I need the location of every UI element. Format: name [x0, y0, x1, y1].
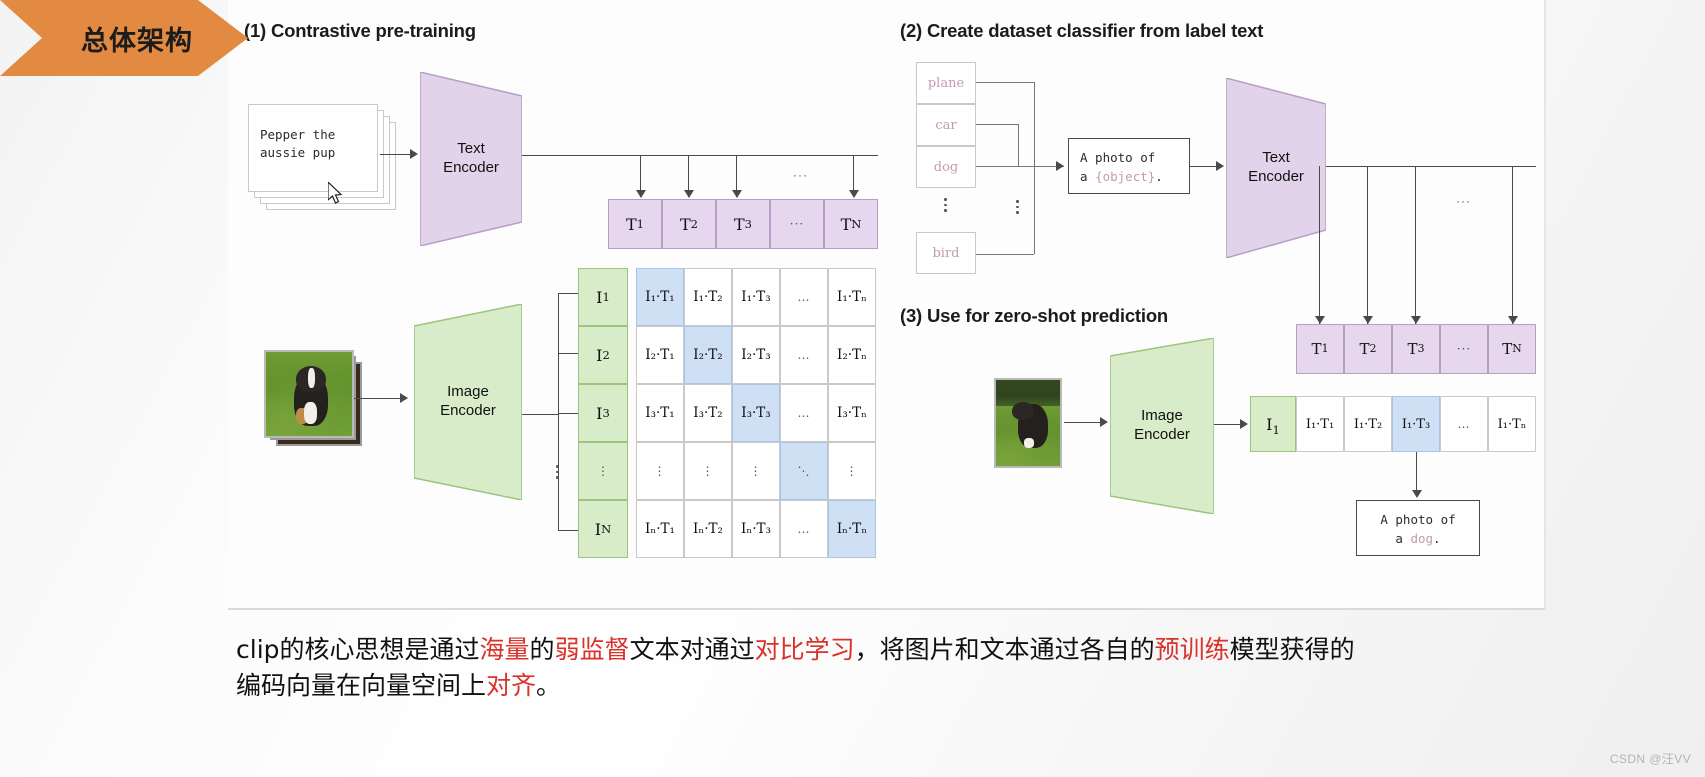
section1-matrix-cell-r4-c2: ⋮: [684, 442, 732, 500]
section1-matrix-cell-r4-c5: ⋮: [828, 442, 876, 500]
section2-label-bird: bird: [916, 232, 976, 274]
encoder2-bus-ellipsis: ···: [1456, 194, 1471, 208]
arrow-encoder2-to-i1-line: [1214, 424, 1242, 425]
section1-i-column: I1I2I3⋮IN: [578, 268, 628, 560]
section1-matrix-cell-r1-c5: I₁·Tₙ: [828, 268, 876, 326]
section1-matrix-cell-r4-c3: ⋮: [732, 442, 780, 500]
section3-score-row: I₁·T₁I₁·T₂I₁·T₃…I₁·Tₙ: [1296, 396, 1538, 452]
image-encoder-block: Image Encoder: [414, 304, 522, 500]
arrow-prompt-to-encoder-line: [1190, 166, 1218, 167]
label-connector-spine-left: [1018, 124, 1019, 166]
result-line2-prefix: a: [1395, 531, 1410, 546]
text-encoder-2-label-line2: Encoder: [1248, 168, 1304, 187]
section1-matrix-cell-r2-c2: I₂·T₂: [684, 326, 732, 384]
section2-label-car: car: [916, 104, 976, 146]
section3-score-cell-1: I₁·T₁: [1296, 396, 1344, 452]
image-encoder-2-label-line2: Encoder: [1134, 426, 1190, 445]
section1-matrix-cell-r3-c5: I₃·Tₙ: [828, 384, 876, 442]
section1-i-cell-1: I1: [578, 268, 628, 326]
caption-line2-part-3: 。: [536, 671, 561, 700]
image-encoder-label-line2: Encoder: [440, 402, 496, 421]
section1-matrix-cell-r1-c3: I₁·T₃: [732, 268, 780, 326]
section3-score-cell-3: I₁·T₃: [1392, 396, 1440, 452]
image-dog-chest: [304, 402, 317, 424]
section1-t-cell-3: T3: [716, 199, 770, 249]
image-encoder-bus: [522, 414, 558, 415]
arrow-query-image-head: [1100, 417, 1108, 427]
t-col-drop-2: [1367, 166, 1368, 324]
label-connector-car: [976, 124, 1018, 125]
image-encoder-2-label: Image Encoder: [1110, 338, 1214, 514]
section1-t-row: T1T2T3···TN: [608, 199, 878, 249]
image-bus-ellipsis: [556, 465, 559, 479]
caption-line-1: clip的核心思想是通过海量的弱监督文本对通过对比学习，将图片和文本通过各自的预…: [236, 632, 1516, 668]
result-line1: A photo of: [1357, 511, 1479, 530]
section1-matrix-cell-r5-c5: Iₙ·Tₙ: [828, 500, 876, 558]
encoder2-bus: [1326, 166, 1536, 167]
text-encoder-bus-arrow-n: [849, 190, 859, 198]
arrow-card-to-text-encoder-line: [380, 154, 412, 155]
caption-line-2: 编码向量在向量空间上对齐。: [236, 668, 1516, 704]
section3-t-cell-3: T3: [1392, 324, 1440, 374]
prompt-template-box: A photo of a {object}.: [1068, 138, 1190, 194]
arrow-labels-to-prompt: [1056, 161, 1064, 171]
section2-label-ellipsis: [944, 198, 947, 212]
query-image: [994, 378, 1062, 468]
caption-line1-part-7: ，将图片和文本通过各自的: [855, 635, 1155, 664]
section1-similarity-matrix: I₁·T₁I₁·T₂I₁·T₃…I₁·TₙI₂·T₁I₂·T₂I₂·T₃…I₂·…: [636, 268, 878, 560]
section-title-text: 总体架构: [81, 19, 193, 58]
section3-t-cell-1: T1: [1296, 324, 1344, 374]
section1-heading: (1) Contrastive pre-training: [244, 20, 476, 42]
image-encoder-bus-spine: [558, 293, 559, 530]
prediction-result-text: A photo of a dog.: [1357, 511, 1479, 549]
section1-matrix-cell-r3-c1: I₃·T₁: [636, 384, 684, 442]
query-image-dog-head: [1012, 402, 1034, 420]
section3-t-cell-4: ···: [1440, 324, 1488, 374]
t-col-drop-1: [1319, 166, 1320, 324]
section1-matrix-cell-r5-c4: …: [780, 500, 828, 558]
t-col-arrow-n: [1508, 316, 1518, 324]
image-dog-blaze: [308, 368, 315, 388]
t-col-drop-3: [1415, 166, 1416, 324]
caption-line1-part-5: 文本对通过: [630, 635, 755, 664]
caption-line1-part-2: 海量: [480, 635, 530, 664]
section3-t-row: T1T2T3···TN: [1296, 324, 1538, 374]
query-image-dog-leg: [1024, 438, 1034, 448]
text-encoder-2-label: Text Encoder: [1226, 78, 1326, 258]
section3-t-cell-5: TN: [1488, 324, 1536, 374]
image-stack-1: [264, 350, 354, 438]
prompt-line2-suffix: .: [1155, 169, 1163, 184]
image-encoder-2-label-line1: Image: [1141, 407, 1183, 426]
prompt-line2: a {object}.: [1080, 168, 1163, 187]
section2-label-plane: plane: [916, 62, 976, 104]
caption-line1-part-8: 预训练: [1155, 635, 1230, 664]
caption-line1-part-6: 对比学习: [755, 635, 855, 664]
section1-matrix-cell-r1-c2: I₁·T₂: [684, 268, 732, 326]
section2-label-boxes: planecardogbird: [916, 62, 976, 274]
label-connector-dog: [976, 166, 1064, 167]
arrow-image-to-encoder-head: [400, 393, 408, 403]
text-encoder-block-2: Text Encoder: [1226, 78, 1326, 258]
section1-matrix-cell-r4-c1: ⋮: [636, 442, 684, 500]
text-encoder-bus-arrow-1: [636, 190, 646, 198]
arrow-prompt-to-encoder-head: [1216, 161, 1224, 171]
section3-score-cell-4: …: [1440, 396, 1488, 452]
section1-t-cell-1: T1: [608, 199, 662, 249]
section2-heading: (2) Create dataset classifier from label…: [900, 20, 1263, 42]
text-encoder-label: Text Encoder: [420, 72, 522, 246]
query-embedding-label: I1: [1266, 415, 1280, 434]
text-encoder-2-label-line1: Text: [1262, 149, 1290, 168]
section1-i-cell-3: I3: [578, 384, 628, 442]
section3-heading: (3) Use for zero-shot prediction: [900, 305, 1168, 327]
section1-matrix-cell-r2-c1: I₂·T₁: [636, 326, 684, 384]
text-encoder-bus: [522, 155, 878, 156]
query-embedding-cell: I1: [1250, 396, 1296, 452]
caption-line1-part-9: 模型获得的: [1230, 635, 1355, 664]
section1-i-cell-2: I2: [578, 326, 628, 384]
text-encoder-bus-arrow-3: [732, 190, 742, 198]
image-encoder-label-line1: Image: [447, 383, 489, 402]
prompt-line2-prefix: a: [1080, 169, 1095, 184]
arrow-card-to-text-encoder-head: [410, 149, 418, 159]
section2-label-dog: dog: [916, 146, 976, 188]
text-card-caption: Pepper the aussie pup: [260, 126, 368, 162]
text-encoder-label-line1: Text: [457, 140, 485, 159]
t-col-arrow-3: [1411, 316, 1421, 324]
watermark: CSDN @汪VV: [1610, 750, 1691, 767]
caption-line1-part-3: 的: [530, 635, 555, 664]
label-connector-ellipsis: [1016, 200, 1019, 214]
section1-i-cell-5: IN: [578, 500, 628, 558]
label-connector-spine-right: [1034, 82, 1035, 254]
section1-matrix-cell-r3-c2: I₃·T₂: [684, 384, 732, 442]
section1-t-cell-5: TN: [824, 199, 878, 249]
text-encoder-bus-ellipsis: ···: [793, 168, 808, 182]
section1-matrix-cell-r2-c3: I₂·T₃: [732, 326, 780, 384]
arrow-encoder2-to-i1-head: [1240, 419, 1248, 429]
t-col-drop-n: [1512, 166, 1513, 324]
section3-t-cell-2: T2: [1344, 324, 1392, 374]
section1-matrix-cell-r3-c4: …: [780, 384, 828, 442]
section1-matrix-cell-r4-c4: ⋱: [780, 442, 828, 500]
mouse-cursor: [328, 182, 348, 208]
arrow-score-to-result-head: [1412, 490, 1422, 498]
section3-score-cell-5: I₁·Tₙ: [1488, 396, 1536, 452]
section1-matrix-cell-r5-c2: Iₙ·T₂: [684, 500, 732, 558]
prompt-template-text: A photo of a {object}.: [1080, 149, 1163, 187]
label-connector-bird: [976, 254, 1034, 255]
caption-line2-part-2: 对齐: [486, 671, 536, 700]
section1-matrix-cell-r1-c4: …: [780, 268, 828, 326]
image-encoder-label: Image Encoder: [414, 304, 522, 500]
text-encoder-block: Text Encoder: [420, 72, 522, 246]
t-col-arrow-2: [1363, 316, 1373, 324]
arrow-image-to-encoder-line: [354, 398, 402, 399]
arrow-query-image-line: [1064, 422, 1102, 423]
caption-line1-part-1: clip的核心思想是通过: [236, 635, 480, 664]
section1-matrix-cell-r3-c3: I₃·T₃: [732, 384, 780, 442]
caption-block: clip的核心思想是通过海量的弱监督文本对通过对比学习，将图片和文本通过各自的预…: [236, 632, 1516, 703]
prompt-line1: A photo of: [1080, 149, 1163, 168]
t-col-arrow-1: [1315, 316, 1325, 324]
result-predicted-class: dog: [1410, 531, 1433, 546]
section1-matrix-cell-r5-c3: Iₙ·T₃: [732, 500, 780, 558]
section1-t-cell-2: T2: [662, 199, 716, 249]
image-encoder-block-2: Image Encoder: [1110, 338, 1214, 514]
prediction-result-box: A photo of a dog.: [1356, 500, 1480, 556]
text-encoder-label-line2: Encoder: [443, 159, 499, 178]
section1-t-cell-4: ···: [770, 199, 824, 249]
clip-architecture-figure: (1) Contrastive pre-training Pepper the …: [228, 0, 1546, 610]
result-line2: a dog.: [1357, 530, 1479, 549]
section1-i-cell-4: ⋮: [578, 442, 628, 500]
prompt-object-slot: {object}: [1095, 169, 1155, 184]
result-line2-suffix: .: [1433, 531, 1441, 546]
section1-matrix-cell-r1-c1: I₁·T₁: [636, 268, 684, 326]
section1-matrix-cell-r5-c1: Iₙ·T₁: [636, 500, 684, 558]
section3-score-cell-2: I₁·T₂: [1344, 396, 1392, 452]
text-encoder-bus-arrow-2: [684, 190, 694, 198]
section1-matrix-cell-r2-c4: …: [780, 326, 828, 384]
section1-matrix-cell-r2-c5: I₂·Tₙ: [828, 326, 876, 384]
caption-line2-part-1: 编码向量在向量空间上: [236, 671, 486, 700]
caption-line1-part-4: 弱监督: [555, 635, 630, 664]
label-connector-plane: [976, 82, 1034, 83]
